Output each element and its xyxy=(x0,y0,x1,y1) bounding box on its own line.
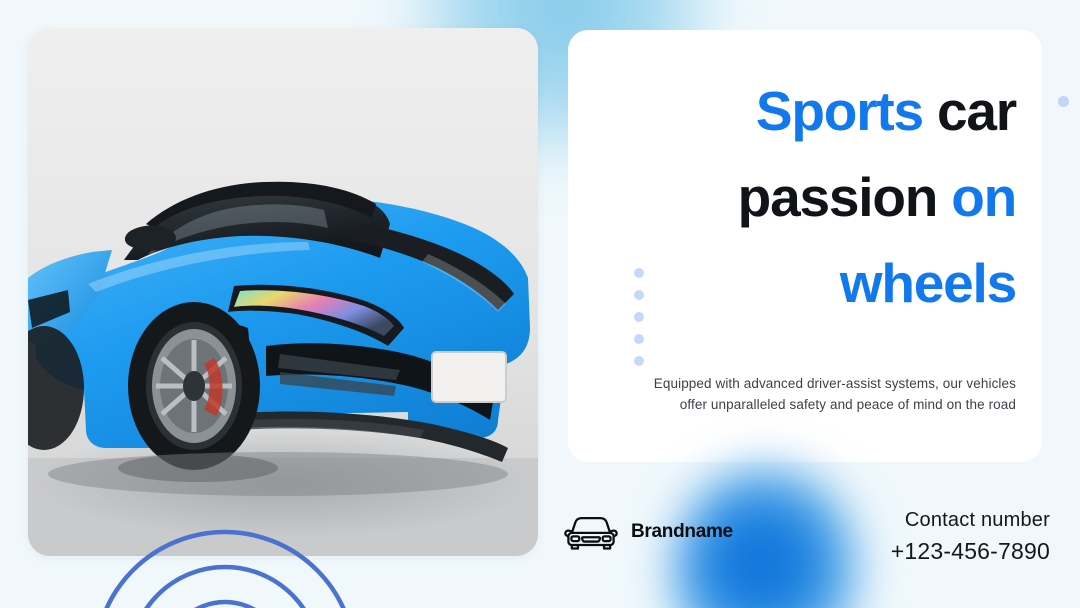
car-photo-card xyxy=(28,28,538,556)
bullet-dot xyxy=(634,290,644,300)
headline-word-on: on xyxy=(951,166,1016,228)
bullet-dots-decoration xyxy=(634,268,644,366)
contact-label: Contact number xyxy=(891,505,1050,535)
bullet-dot xyxy=(634,268,644,278)
headline-word-car: car xyxy=(937,80,1016,142)
brand-name: Brandname xyxy=(631,521,733,543)
contact-number[interactable]: +123-456-7890 xyxy=(891,535,1050,567)
headline-word-sports: Sports xyxy=(756,80,923,142)
edge-dot-decoration xyxy=(1058,96,1069,107)
car-front-icon xyxy=(563,512,619,552)
car-photo-illustration xyxy=(28,28,538,556)
headline-word-wheels: wheels xyxy=(840,252,1016,314)
headline-word-passion: passion xyxy=(738,166,937,228)
brand-lockup[interactable]: Brandname xyxy=(563,512,733,552)
bullet-dot xyxy=(634,356,644,366)
body-paragraph: Equipped with advanced driver-assist sys… xyxy=(626,373,1016,415)
contact-block: Contact number +123-456-7890 xyxy=(891,505,1050,567)
bullet-dot xyxy=(634,312,644,322)
bullet-dot xyxy=(634,334,644,344)
page-title: Sports car passion on wheels xyxy=(594,68,1016,326)
headline-card: Sports car passion on wheels Equipped wi… xyxy=(568,30,1042,462)
poster-canvas: Sports car passion on wheels Equipped wi… xyxy=(0,0,1080,608)
